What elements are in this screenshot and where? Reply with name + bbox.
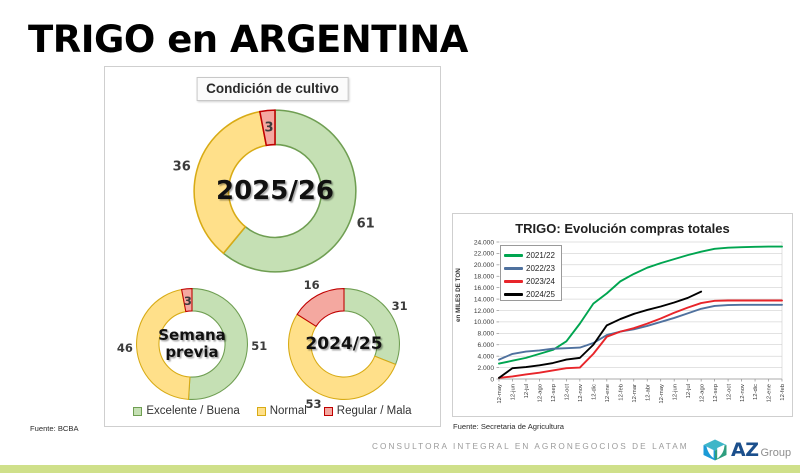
legend-item[interactable]: Normal: [257, 405, 307, 417]
donut-slice[interactable]: [189, 289, 248, 400]
chart-legend-item-label: 2021/22: [526, 251, 555, 260]
source-note-agricultura: Fuente: Secretaria de Agricultura: [453, 422, 564, 431]
y-axis-tick-label: 16.000: [474, 285, 495, 292]
donut-slice[interactable]: [194, 112, 266, 254]
chart-legend-line-icon: [504, 293, 523, 296]
donut-chart-2024-25[interactable]: 2024/25 315316: [285, 285, 403, 403]
cube-icon: [702, 438, 728, 462]
donut-slice-value: 61: [357, 216, 375, 231]
y-axis-tick-label: 4.000: [477, 353, 494, 360]
x-axis-tick-label: 12-may: [659, 384, 665, 404]
donut-slice-value: 36: [173, 160, 191, 175]
condition-chart-panel: Condición de cultivo 2025/26 61363 Seman…: [104, 66, 441, 427]
chart-series-line: [499, 292, 701, 378]
x-axis-tick-label: 12-ene: [767, 383, 773, 402]
chart-legend-item-label: 2024/25: [526, 290, 555, 299]
x-axis-tick-label: 12-nov: [740, 384, 746, 402]
x-axis-tick-label: 12-may: [497, 384, 503, 404]
x-axis-tick-label: 12-jun: [511, 384, 517, 400]
y-axis-tick-label: 8.000: [477, 331, 494, 338]
chart-legend-item[interactable]: 2024/25: [504, 288, 561, 301]
chart-legend-item[interactable]: 2022/23: [504, 262, 561, 275]
chart-legend-item[interactable]: 2021/22: [504, 249, 561, 262]
legend-item[interactable]: Excelente / Buena: [133, 405, 239, 417]
x-axis-tick-label: 12-sep: [551, 383, 557, 402]
x-axis-tick-label: 12-ago: [538, 383, 544, 402]
chart-series-line: [499, 305, 782, 360]
legend-item-label: Excelente / Buena: [146, 405, 239, 417]
x-axis-tick-label: 12-ago: [699, 383, 705, 402]
legend-item[interactable]: Regular / Mala: [324, 405, 412, 417]
condition-chart-title: Condición de cultivo: [196, 77, 349, 101]
source-note-bcba: Fuente: BCBA: [30, 424, 79, 433]
y-axis-tick-label: 18.000: [474, 274, 495, 281]
az-logo-az-text: AZ: [731, 439, 758, 461]
x-axis-tick-label: 12-oct: [565, 384, 571, 401]
page-title: TRIGO en ARGENTINA: [28, 18, 468, 61]
legend-swatch-icon: [133, 407, 142, 416]
donut-chart-semana-previa[interactable]: Semana previa 51463: [133, 285, 251, 403]
donut-main-svg: [189, 105, 361, 277]
chart-legend-item[interactable]: 2023/24: [504, 275, 561, 288]
az-group-logo[interactable]: AZ Group: [702, 438, 791, 462]
x-axis-tick-label: 12-abr: [645, 384, 651, 401]
y-axis-tick-label: 0: [490, 376, 494, 383]
chart-legend-item-label: 2023/24: [526, 277, 555, 286]
x-axis-tick-label: 12-jul: [524, 384, 530, 398]
legend-swatch-icon: [257, 407, 266, 416]
y-axis-tick-label: 24.000: [474, 239, 495, 246]
x-axis-tick-label: 12-ene: [605, 383, 611, 402]
donut-slice[interactable]: [137, 290, 190, 400]
x-axis-tick-label: 12-dic: [753, 384, 759, 400]
x-axis-tick-label: 12-sep: [713, 383, 719, 402]
chart-legend-line-icon: [504, 267, 523, 270]
condition-chart-legend: Excelente / BuenaNormalRegular / Mala: [105, 405, 440, 417]
donut-slice-value: 31: [392, 299, 408, 313]
legend-item-label: Regular / Mala: [337, 405, 412, 417]
donut-slice-value: 51: [251, 339, 267, 353]
x-axis-tick-label: 12-dic: [592, 384, 598, 400]
donut-chart-2025-26[interactable]: 2025/26 61363: [189, 105, 361, 277]
footer-tagline: CONSULTORA INTEGRAL EN AGRONEGOCIOS DE L…: [372, 442, 689, 451]
legend-swatch-icon: [324, 407, 333, 416]
x-axis-tick-label: 12-jun: [672, 384, 678, 400]
purchases-chart-legend[interactable]: 2021/222022/232023/242024/25: [500, 245, 562, 301]
donut-slice-value: 16: [304, 278, 320, 292]
az-logo-group-text: Group: [760, 447, 791, 459]
purchases-chart-panel: TRIGO: Evolución compras totales en MILE…: [452, 213, 793, 417]
x-axis-tick-label: 12-oct: [726, 384, 732, 401]
y-axis-tick-label: 10.000: [474, 319, 495, 326]
donut-prior-svg: [285, 285, 403, 403]
donut-slice-value: 3: [264, 120, 273, 135]
y-axis-tick-label: 20.000: [474, 262, 495, 269]
x-axis-tick-label: 12-jul: [686, 384, 692, 398]
y-axis-tick-label: 12.000: [474, 308, 495, 315]
legend-item-label: Normal: [270, 405, 307, 417]
az-logo-text: AZ Group: [731, 439, 791, 461]
y-axis-tick-label: 22.000: [474, 251, 495, 258]
bottom-accent-bar: [0, 465, 800, 473]
y-axis-tick-label: 6.000: [477, 342, 494, 349]
donut-prev-svg: [133, 285, 251, 403]
donut-slice-value: 3: [184, 294, 192, 308]
chart-legend-line-icon: [504, 280, 523, 283]
y-axis-tick-label: 2.000: [477, 365, 494, 372]
x-axis-tick-label: 12-mar: [632, 384, 638, 403]
x-axis-tick-label: 12-nov: [578, 384, 584, 402]
chart-legend-line-icon: [504, 254, 523, 257]
x-axis-tick-label: 12-feb: [618, 383, 624, 400]
x-axis-tick-label: 12-feb: [780, 383, 786, 400]
y-axis-tick-label: 14.000: [474, 296, 495, 303]
chart-legend-item-label: 2022/23: [526, 264, 555, 273]
donut-slice-value: 46: [117, 341, 133, 355]
